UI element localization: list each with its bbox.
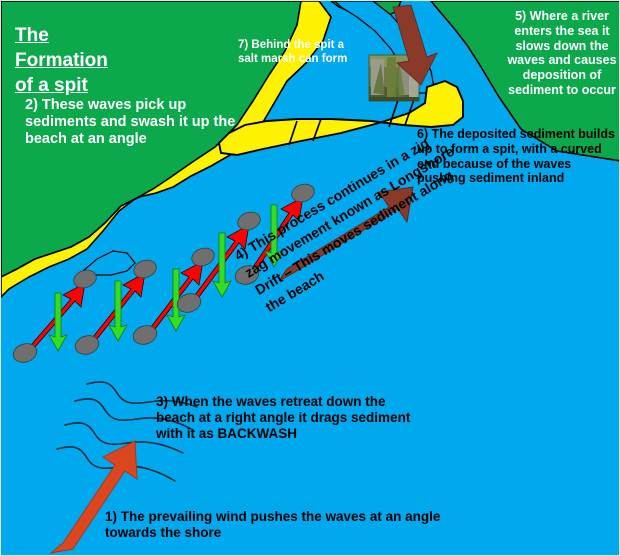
title-line-1: The xyxy=(15,25,49,46)
label-step-7: 7) Behind the spit a salt marsh can form xyxy=(238,39,358,66)
label-step-2: 2) These waves pick up sediments and swa… xyxy=(25,97,240,148)
label-step-5: 5) Where a river enters the sea it slows… xyxy=(506,9,618,98)
page-title: The Formation of a spit xyxy=(15,23,165,98)
spit-formation-diagram: The Formation of a spit 2) These waves p… xyxy=(0,0,620,556)
title-line-2: Formation xyxy=(15,50,108,71)
label-step-1: 1) The prevailing wind pushes the waves … xyxy=(105,509,450,541)
title-line-3: of a spit xyxy=(15,75,88,96)
label-step-3: 3) When the waves retreat down the beach… xyxy=(156,394,426,442)
